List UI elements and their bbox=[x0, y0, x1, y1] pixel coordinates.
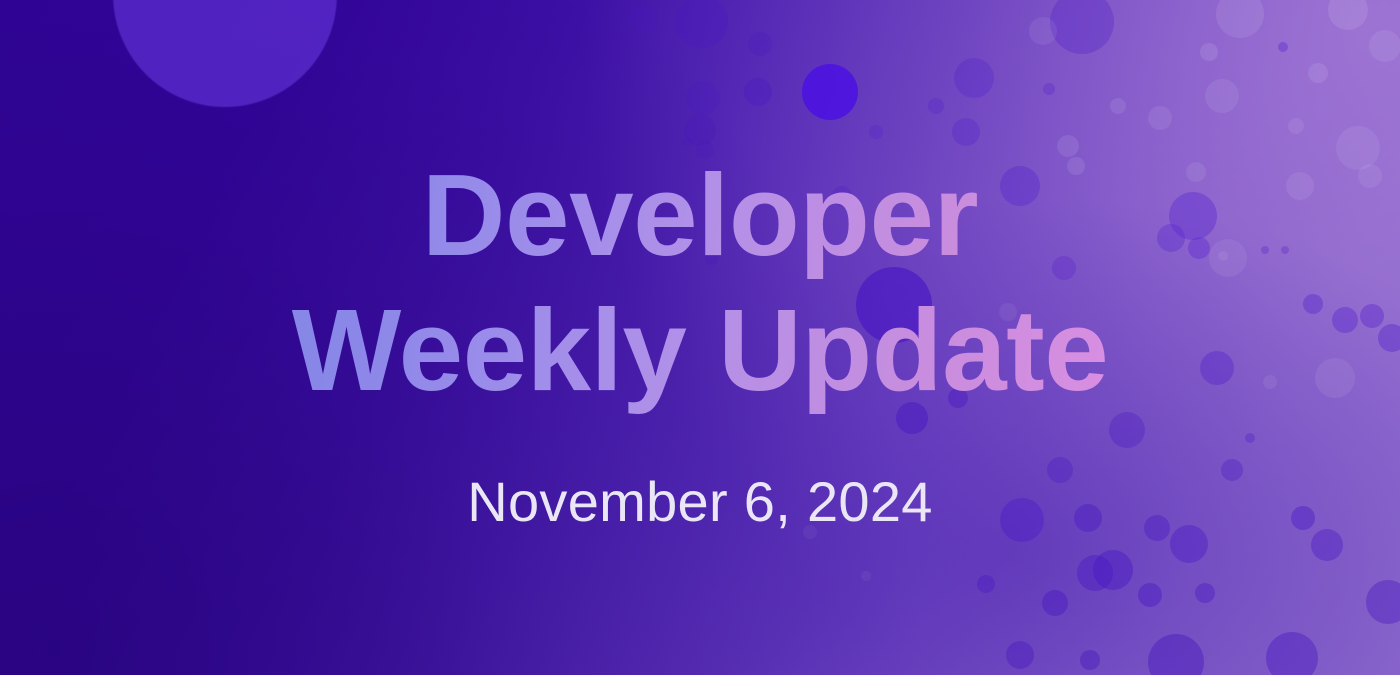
page-title: Developer Weekly Update bbox=[292, 148, 1109, 417]
title-slide: Developer Weekly Update November 6, 2024 bbox=[0, 0, 1400, 675]
title-line-1: Developer bbox=[292, 148, 1109, 283]
title-line-2: Weekly Update bbox=[292, 283, 1109, 418]
slide-content: Developer Weekly Update November 6, 2024 bbox=[0, 0, 1400, 675]
slide-date: November 6, 2024 bbox=[467, 469, 933, 534]
